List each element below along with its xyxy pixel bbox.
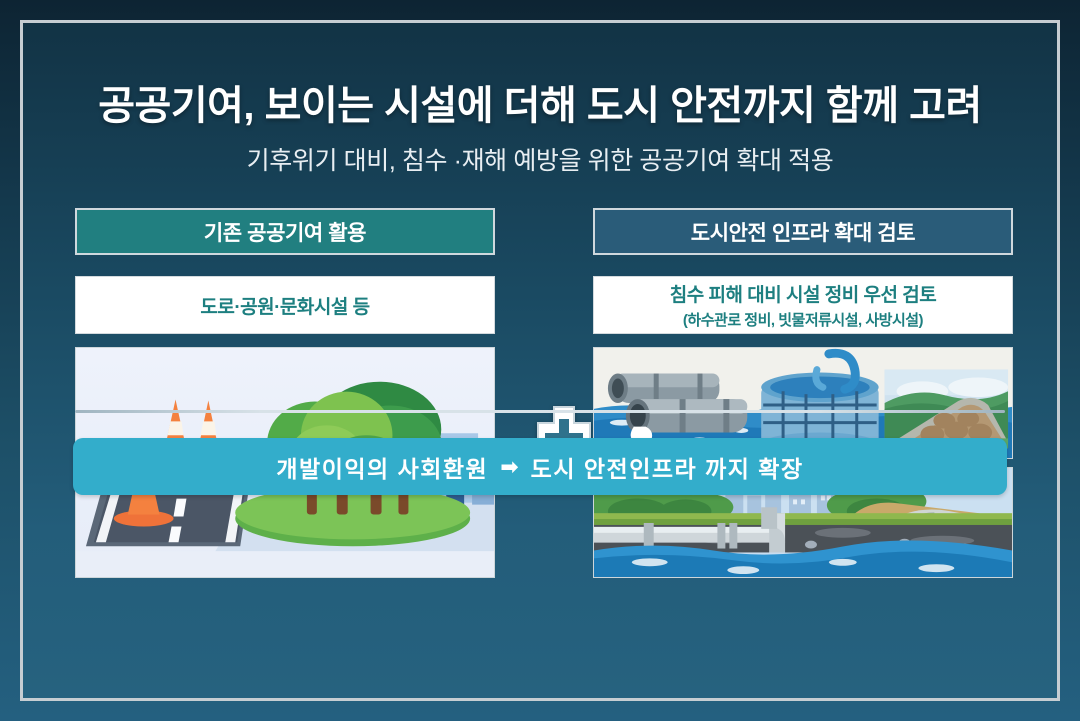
- right-panel-subhead-line1: 침수 피해 대비 시설 정비 우선 검토: [670, 280, 936, 307]
- left-panel-heading: 기존 공공기여 활용: [75, 208, 495, 255]
- footer-banner-text-after: 도시 안전인프라 까지 확장: [531, 450, 804, 484]
- footer-banner-text-before: 개발이익의 사회환원: [276, 450, 488, 484]
- arrow-right-icon: ➡: [500, 454, 518, 480]
- page-subtitle: 기후위기 대비, 침수 ·재해 예방을 위한 공공기여 확대 적용: [23, 141, 1057, 177]
- page-title: 공공기여, 보이는 시설에 더해 도시 안전까지 함께 고려: [23, 73, 1057, 131]
- section-divider: [75, 410, 1005, 413]
- left-panel-subhead-box: 도로·공원·문화시설 등: [75, 276, 495, 334]
- left-panel: 기존 공공기여 활용 도로·공원·문화시설 등: [75, 208, 495, 578]
- right-panel-subhead-line2: (하수관로 정비, 빗물저류시설, 사방시설): [683, 309, 923, 330]
- right-panel-heading: 도시안전 인프라 확대 검토: [593, 208, 1013, 255]
- right-panel-subhead-box: 침수 피해 대비 시설 정비 우선 검토 (하수관로 정비, 빗물저류시설, 사…: [593, 276, 1013, 334]
- left-panel-subhead-line1: 도로·공원·문화시설 등: [200, 292, 369, 319]
- right-panel: 도시안전 인프라 확대 검토 침수 피해 대비 시설 정비 우선 검토 (하수관…: [593, 208, 1013, 578]
- poster-frame: 공공기여, 보이는 시설에 더해 도시 안전까지 함께 고려 기후위기 대비, …: [20, 20, 1060, 701]
- footer-banner: 개발이익의 사회환원 ➡ 도시 안전인프라 까지 확장: [73, 438, 1007, 495]
